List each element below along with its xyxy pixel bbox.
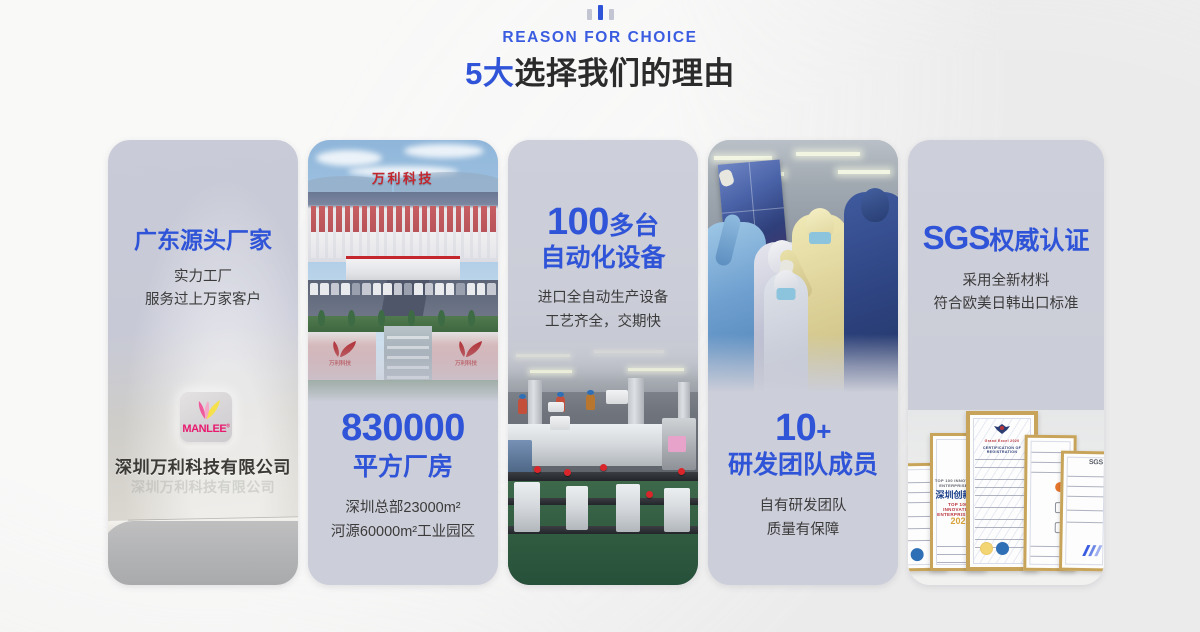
card-sub-line-1: 深圳总部23000m² [318,497,488,520]
face-mask-icon [777,288,796,300]
decorative-ticks [0,0,1200,20]
red-knob-icon [678,468,685,475]
card-sub-line-2: 质量有保障 [718,519,888,542]
card-sub-line-1: 采用全新材料 [918,270,1094,293]
card-headline-number-suffix: 多台 [609,212,659,240]
machine-head [616,484,640,532]
card-headline-number: 830000 [318,408,488,449]
main-building [308,192,498,262]
photo-fade-overlay [508,340,698,380]
logo-wordmark-text: MANLEE [182,423,226,435]
card-sub-line-2: 服务过上万家客户 [118,289,288,312]
material-box [550,416,570,430]
section-eyebrow: REASON FOR CHOICE [0,30,1200,46]
company-name-wall-text: 深圳万利科技有限公司 [108,453,298,478]
reason-card-sgs-certified[interactable]: SGS权威认证 采用全新材料 符合欧美日韩出口标准 TOP 100 INNOVA… [908,140,1104,585]
page-title: 5大选择我们的理由 [0,58,1200,89]
certificate-wall-photo: TOP 100 INNOVATIVE ENTERPRISES IN 深圳创新企 … [908,410,1104,585]
cleanroom-photo [708,140,898,392]
card-sub-line-1: 实力工厂 [118,266,288,289]
card-headline-number-suffix: + [816,416,831,446]
page-title-accent: 5大 [465,56,514,91]
tick-center-icon [598,5,603,20]
cloud-icon [316,150,382,166]
eagle-emblem-icon [993,423,1011,435]
conveyor-rail [508,472,698,481]
card-headline-row: 100多台 [518,202,688,243]
red-knob-icon [534,466,541,473]
machine-head [514,482,540,532]
card-headline-accent: SGS [923,219,990,256]
cloud-icon [404,144,484,158]
factory-campus-photo: 万利科技 万利科技 [308,140,498,402]
photo-fade-overlay [708,334,898,392]
reception-desk-front [108,521,298,585]
registered-mark-icon: ® [226,423,229,429]
card-headline-rest: 权威认证 [989,227,1089,255]
card-sub-line-1: 自有研发团队 [718,495,888,518]
card-headline-row: 10+ [718,408,888,449]
worker-figure [518,398,527,414]
card-headline-line2: 研发团队成员 [718,451,888,479]
reason-card-guangdong-factory[interactable]: 广东源头厂家 实力工厂 服务过上万家客户 MANLEE® 深圳万利科技有限公司 … [108,140,298,585]
card-sub-line-1: 进口全自动生产设备 [518,287,688,310]
reason-card-factory-area[interactable]: 万利科技 万利科技 [308,140,498,585]
butterfly-logo-icon [189,398,223,420]
reason-card-list: 广东源头厂家 实力工厂 服务过上万家客户 MANLEE® 深圳万利科技有限公司 … [108,140,1100,585]
card-text-block: SGS权威认证 采用全新材料 符合欧美日韩出口标准 [908,220,1104,317]
card-sub-line-2: 河源60000m²工业园区 [318,521,488,544]
card-text-block: 830000 平方厂房 深圳总部23000m² 河源60000m²工业园区 [308,408,498,544]
tick-right-icon [609,9,614,20]
sgs-mark-text: SGS [1089,459,1103,466]
production-floor-photo [508,340,698,585]
photo-fade-overlay [308,338,498,402]
card-headline-number: 10 [775,407,816,449]
card-text-block: 10+ 研发团队成员 自有研发团队 质量有保障 [708,408,898,542]
face-mask-icon [809,232,831,244]
chevron-logo-icon [1080,544,1102,558]
card-sub-line-2: 符合欧美日韩出口标准 [918,293,1094,316]
worker-hood [861,188,889,222]
lowrise-building [346,256,460,282]
reason-card-automation-equipment[interactable]: 100多台 自动化设备 进口全自动生产设备 工艺齐全，交期快 [508,140,698,585]
page-title-rest: 选择我们的理由 [514,56,735,91]
card-headline: 广东源头厂家 [118,228,288,254]
material-box [606,390,628,404]
card-sub-line-2: 工艺齐全，交期快 [518,311,688,334]
parked-cars [310,283,496,295]
building-window-stripes [308,206,498,258]
logo-wordmark: MANLEE® [180,423,232,435]
worker-figure [586,394,595,410]
card-headline-number: 100 [547,201,609,243]
red-knob-icon [600,464,607,471]
company-name-reflection: 深圳万利科技有限公司 [108,477,298,497]
building-rooftop-sign: 万利科技 [308,168,498,187]
machine-head [664,488,690,532]
reason-card-rd-team[interactable]: 10+ 研发团队成员 自有研发团队 质量有保障 [708,140,898,585]
worker-arm [714,213,742,267]
material-box [548,402,564,412]
label-tag [668,436,686,452]
red-knob-icon [564,469,571,476]
red-knob-icon [646,491,653,498]
machine-head [566,486,588,530]
card-text-block: 100多台 自动化设备 进口全自动生产设备 工艺齐全，交期快 [508,202,698,334]
card-headline-unit: 平方厂房 [318,453,488,481]
manlee-logo-sign: MANLEE® [180,392,232,442]
tick-left-icon [587,9,592,20]
page-header: REASON FOR CHOICE 5大选择我们的理由 [0,0,1200,130]
certificate-frame: SGS [1059,451,1104,572]
card-headline-row: SGS权威认证 [918,220,1094,256]
card-headline-line2: 自动化设备 [518,244,688,272]
card-text-block: 广东源头厂家 实力工厂 服务过上万家客户 [108,228,298,313]
